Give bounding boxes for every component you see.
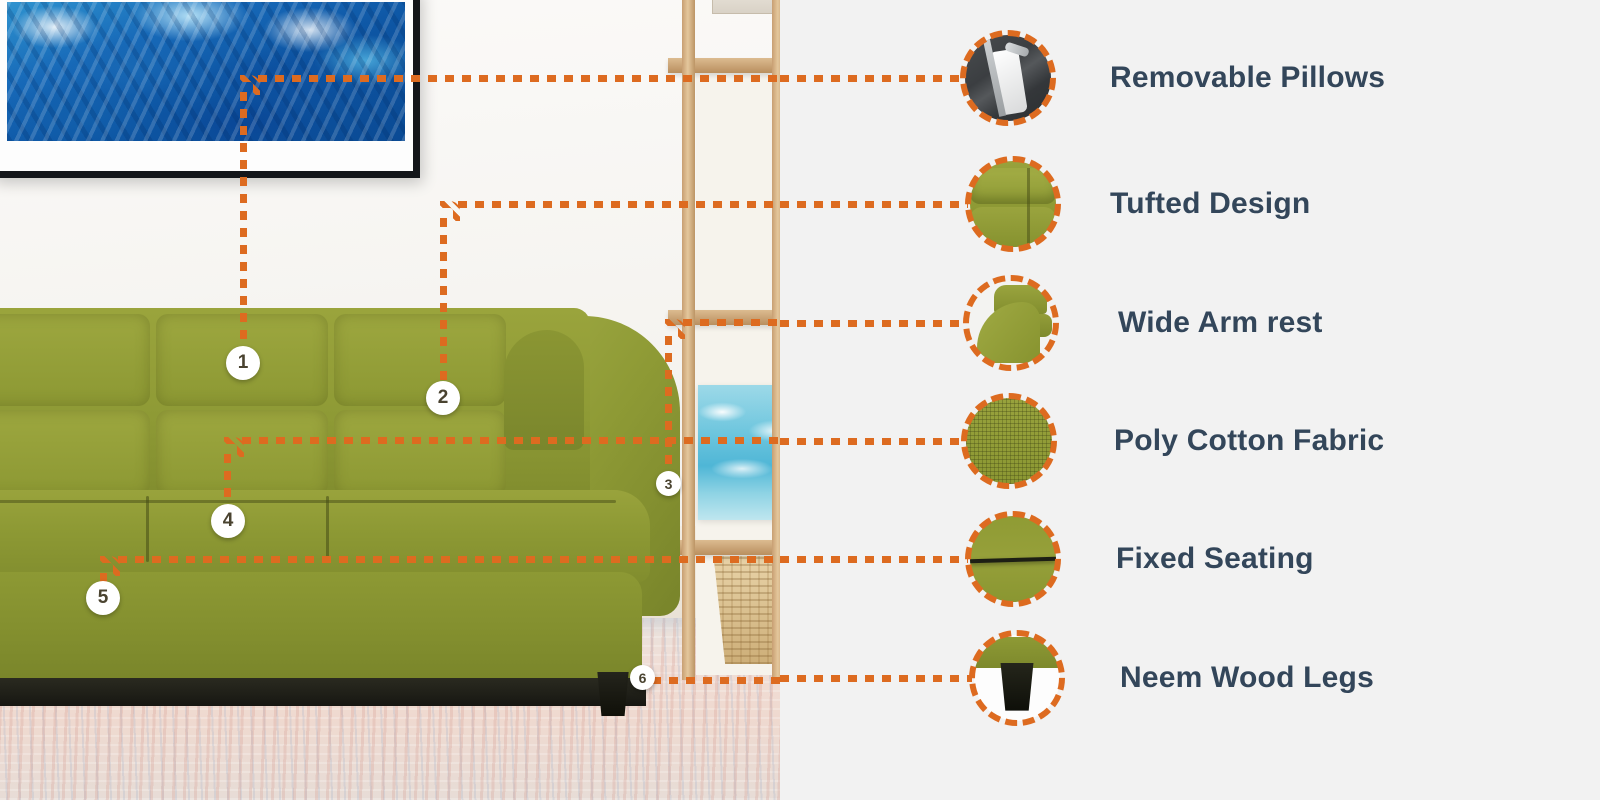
feature-2-lead-line bbox=[780, 201, 968, 208]
feature-6-label: Neem Wood Legs bbox=[1120, 661, 1374, 695]
connector-4-horizontal bbox=[242, 437, 780, 444]
shelf-post-right bbox=[772, 0, 780, 680]
back-cushion-6 bbox=[334, 410, 506, 496]
feature-3-lead-line bbox=[780, 320, 966, 327]
feature-4-label: Poly Cotton Fabric bbox=[1114, 424, 1384, 458]
photo-marker-1-number: 1 bbox=[238, 352, 249, 374]
feature-row-poly-cotton-fabric[interactable]: Poly Cotton Fabric bbox=[780, 391, 1600, 491]
photo-marker-4-number: 4 bbox=[223, 510, 234, 532]
product-photo: 1 2 3 4 5 6 bbox=[0, 0, 780, 800]
feature-row-wide-arm-rest[interactable]: Wide Arm rest bbox=[780, 273, 1600, 373]
feature-1-thumbnail[interactable] bbox=[965, 35, 1051, 121]
back-cushion-1 bbox=[0, 314, 150, 406]
feature-row-neem-wood-legs[interactable]: Neem Wood Legs bbox=[780, 628, 1600, 728]
shelf-nook-top bbox=[696, 73, 780, 310]
feature-3-dashed-ring bbox=[963, 275, 1059, 371]
connector-2-elbow bbox=[440, 201, 460, 221]
photo-marker-6[interactable]: 6 bbox=[630, 665, 655, 690]
armrest-inner bbox=[504, 330, 584, 450]
connector-5-elbow bbox=[100, 556, 120, 576]
connector-5-horizontal bbox=[118, 556, 780, 563]
framed-artwork bbox=[0, 0, 420, 178]
feature-row-removable-pillows[interactable]: Removable Pillows bbox=[780, 28, 1600, 128]
product-feature-infographic: 1 2 3 4 5 6 Removable Pillows Tufted Des… bbox=[0, 0, 1600, 800]
connector-3-horizontal bbox=[683, 319, 780, 326]
seat-seam-v1 bbox=[146, 496, 149, 562]
photo-marker-5[interactable]: 5 bbox=[86, 581, 120, 615]
feature-row-tufted-design[interactable]: Tufted Design bbox=[780, 154, 1600, 254]
connector-6-horizontal bbox=[652, 677, 780, 684]
photo-marker-4[interactable]: 4 bbox=[211, 504, 245, 538]
connector-1-horizontal bbox=[258, 75, 780, 82]
photo-marker-6-number: 6 bbox=[639, 670, 647, 686]
photo-marker-3[interactable]: 3 bbox=[656, 471, 681, 496]
feature-4-lead-line bbox=[780, 438, 964, 445]
shelf-blue-artwork bbox=[698, 385, 780, 520]
feature-5-thumbnail[interactable] bbox=[970, 516, 1056, 602]
feature-row-fixed-seating[interactable]: Fixed Seating bbox=[780, 509, 1600, 609]
feature-5-dashed-ring bbox=[965, 511, 1061, 607]
feature-1-lead-line bbox=[780, 75, 968, 82]
feature-5-lead-line bbox=[780, 556, 968, 563]
feature-2-label: Tufted Design bbox=[1110, 187, 1310, 221]
seat-seam bbox=[0, 500, 616, 503]
photo-marker-5-number: 5 bbox=[98, 587, 109, 609]
connector-4-elbow bbox=[224, 437, 244, 457]
back-cushion-3 bbox=[334, 314, 506, 406]
feature-1-dashed-ring bbox=[960, 30, 1056, 126]
features-panel: Removable Pillows Tufted Design Wide Arm… bbox=[780, 0, 1600, 800]
connector-3-elbow bbox=[665, 319, 685, 339]
sofa bbox=[0, 300, 710, 720]
photo-marker-2[interactable]: 2 bbox=[426, 381, 460, 415]
connector-2-vertical bbox=[440, 218, 447, 384]
feature-6-thumbnail[interactable] bbox=[974, 635, 1060, 721]
feature-2-thumbnail[interactable] bbox=[970, 161, 1056, 247]
blue-abstract-painting bbox=[7, 2, 405, 141]
feature-4-dashed-ring bbox=[961, 393, 1057, 489]
sofa-seat bbox=[0, 490, 650, 582]
feature-2-dashed-ring bbox=[965, 156, 1061, 252]
photo-marker-2-number: 2 bbox=[438, 387, 449, 409]
feature-5-label: Fixed Seating bbox=[1116, 542, 1314, 576]
back-cushion-4 bbox=[0, 410, 150, 496]
feature-6-dashed-ring bbox=[969, 630, 1065, 726]
connector-1-elbow bbox=[240, 75, 260, 95]
feature-3-label: Wide Arm rest bbox=[1118, 306, 1323, 340]
feature-6-lead-line bbox=[780, 675, 972, 682]
connector-3-vertical bbox=[665, 336, 672, 474]
feature-3-thumbnail[interactable] bbox=[968, 280, 1054, 366]
feature-4-thumbnail[interactable] bbox=[966, 398, 1052, 484]
artwork-mat bbox=[0, 0, 413, 171]
sofa-wood-leg bbox=[596, 672, 630, 716]
connector-1-vertical bbox=[240, 92, 247, 350]
sofa-base-shadow bbox=[0, 678, 646, 706]
shelf-book bbox=[712, 0, 780, 14]
seat-seam-v2 bbox=[326, 496, 329, 562]
photo-marker-1[interactable]: 1 bbox=[226, 346, 260, 380]
connector-2-horizontal bbox=[458, 201, 780, 208]
feature-1-label: Removable Pillows bbox=[1110, 61, 1385, 95]
photo-marker-3-number: 3 bbox=[665, 476, 673, 492]
